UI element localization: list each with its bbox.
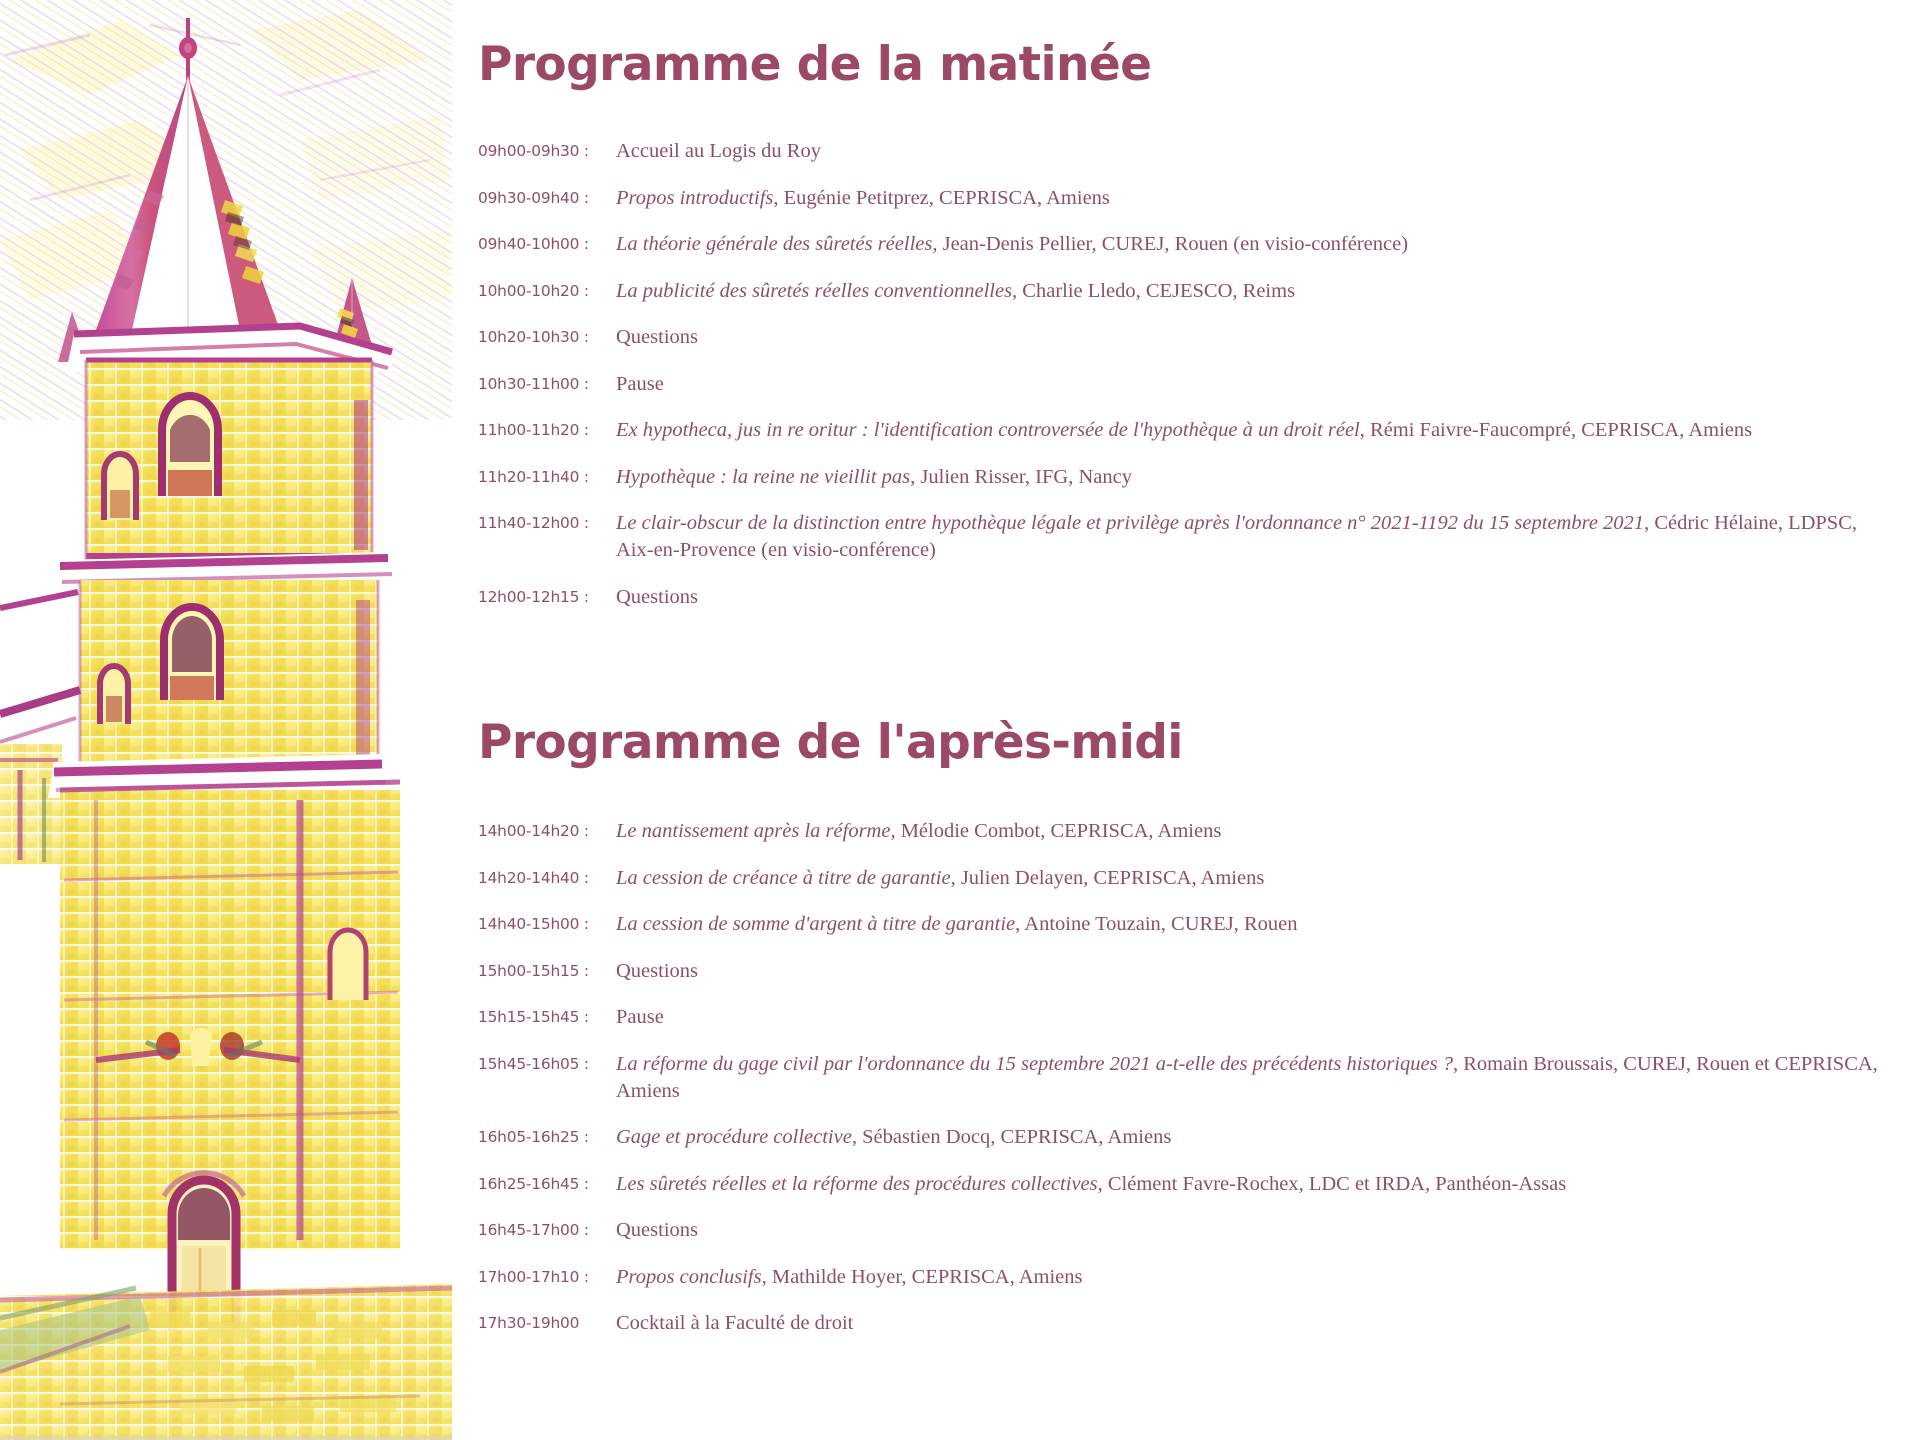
entry-title: Le clair-obscur de la distinction entre … [616,512,1644,534]
entry-speaker: , Eugénie Petitprez, CEPRISCA, Amiens [773,187,1110,209]
schedule-morning: 09h00-09h30 :Accueil au Logis du Roy09h3… [478,138,1893,630]
belfry-upper-stage [86,360,372,560]
heading-afternoon: Programme de l'après-midi [478,718,1183,767]
schedule-entry: 14h00-14h20 :Le nantissement après la ré… [478,818,1893,845]
belfry-window-upper [162,396,218,496]
entry-title: Gage et procédure collective [616,1126,852,1148]
entry-description: Accueil au Logis du Roy [614,138,1893,165]
entry-time: 15h00-15h15 : [478,958,614,985]
entry-time: 17h00-17h10 : [478,1264,614,1291]
entry-speaker: , Rémi Faivre-Faucompré, CEPRISCA, Amien… [1360,419,1752,441]
entry-speaker: , Antoine Touzain, CUREJ, Rouen [1015,913,1297,935]
schedule-entry: 12h00-12h15 :Questions [478,584,1893,611]
entry-time: 14h00-14h20 : [478,818,614,845]
entry-time: 10h00-10h20 : [478,278,614,305]
entry-description: Pause [614,1004,1893,1031]
schedule-entry: 09h00-09h30 :Accueil au Logis du Roy [478,138,1893,165]
entry-description: Hypothèque : la reine ne vieillit pas, J… [614,464,1893,491]
entry-title: Les sûretés réelles et la réforme des pr… [616,1173,1098,1195]
entry-time: 12h00-12h15 : [478,584,614,611]
schedule-entry: 11h00-11h20 :Ex hypotheca, jus in re ori… [478,417,1893,444]
entry-description: Les sûretés réelles et la réforme des pr… [614,1171,1893,1198]
entry-title: La publicité des sûretés réelles convent… [616,280,1012,302]
entry-title: Propos conclusifs [616,1266,762,1288]
schedule-entry: 10h20-10h30 :Questions [478,324,1893,351]
schedule-entry: 14h40-15h00 :La cession de somme d'argen… [478,911,1893,938]
belfry-window-lower-side [100,666,128,724]
entry-description: Questions [614,584,1893,611]
entry-speaker: Pause [616,373,664,395]
entry-description: La réforme du gage civil par l'ordonnanc… [614,1051,1893,1105]
entry-description: Ex hypotheca, jus in re oritur : l'ident… [614,417,1893,444]
schedule-entry: 14h20-14h40 :La cession de créance à tit… [478,865,1893,892]
entry-time: 16h25-16h45 : [478,1171,614,1198]
buttress-strip [354,400,368,550]
entry-description: La cession de créance à titre de garanti… [614,865,1893,892]
entry-time: 11h40-12h00 : [478,510,614,537]
entry-speaker: , Sébastien Docq, CEPRISCA, Amiens [852,1126,1171,1148]
schedule-entry: 11h20-11h40 :Hypothèque : la reine ne vi… [478,464,1893,491]
buttress-strip-2 [356,600,370,760]
entry-speaker: , Charlie Lledo, CEJESCO, Reims [1012,280,1295,302]
bottom-edge-line [0,1436,452,1440]
entry-time: 17h30-19h00 [478,1310,614,1337]
entry-description: La théorie générale des sûretés réelles,… [614,231,1893,258]
church-tower-illustration-graphic [0,0,452,1440]
entry-description: Le clair-obscur de la distinction entre … [614,510,1893,564]
entry-time: 16h05-16h25 : [478,1124,614,1151]
entry-speaker: , Julien Delayen, CEPRISCA, Amiens [951,867,1265,889]
entry-time: 15h45-16h05 : [478,1051,614,1078]
foreground-roofs [0,1284,452,1440]
schedule-entry: 09h30-09h40 :Propos introductifs, Eugéni… [478,185,1893,212]
entry-time: 10h20-10h30 : [478,324,614,351]
entry-description: La cession de somme d'argent à titre de … [614,911,1893,938]
schedule-entry: 16h45-17h00 :Questions [478,1217,1893,1244]
entry-title: Ex hypotheca, jus in re oritur : l'ident… [616,419,1360,441]
entry-title: La théorie générale des sûretés réelles [616,233,932,255]
heading-morning: Programme de la matinée [478,40,1151,89]
entry-title: La réforme du gage civil par l'ordonnanc… [616,1053,1453,1075]
entry-time: 11h20-11h40 : [478,464,614,491]
schedule-entry: 15h00-15h15 :Questions [478,958,1893,985]
programme-content: Programme de la matinée 09h00-09h30 :Acc… [452,0,1917,1440]
schedule-entry: 16h25-16h45 :Les sûretés réelles et la r… [478,1171,1893,1198]
schedule-entry: 10h00-10h20 :La publicité des sûretés ré… [478,278,1893,305]
belfry-window-upper-side [104,454,136,520]
entry-title: Propos introductifs [616,187,773,209]
entry-description: Gage et procédure collective, Sébastien … [614,1124,1893,1151]
entry-speaker: Accueil au Logis du Roy [616,140,821,162]
schedule-entry: 17h30-19h00Cocktail à la Faculté de droi… [478,1310,1893,1337]
entry-speaker: Questions [616,586,698,608]
entry-time: 09h00-09h30 : [478,138,614,165]
entry-description: Pause [614,371,1893,398]
entry-speaker: Questions [616,326,698,348]
schedule-entry: 09h40-10h00 :La théorie générale des sûr… [478,231,1893,258]
entry-description: Propos introductifs, Eugénie Petitprez, … [614,185,1893,212]
entry-description: La publicité des sûretés réelles convent… [614,278,1893,305]
entry-speaker: , Jean-Denis Pellier, CUREJ, Rouen (en v… [932,233,1408,255]
schedule-entry: 11h40-12h00 :Le clair-obscur de la disti… [478,510,1893,564]
entry-speaker: , Clément Favre-Rochex, LDC et IRDA, Pan… [1098,1173,1567,1195]
entry-speaker: , Julien Risser, IFG, Nancy [910,466,1132,488]
entry-description: Questions [614,958,1893,985]
entry-time: 14h40-15h00 : [478,911,614,938]
entry-title: Le nantissement après la réforme [616,820,890,842]
entry-description: Propos conclusifs, Mathilde Hoyer, CEPRI… [614,1264,1893,1291]
schedule-entry: 15h15-15h45 :Pause [478,1004,1893,1031]
entry-description: Questions [614,1217,1893,1244]
entry-speaker: Questions [616,1219,698,1241]
schedule-entry: 17h00-17h10 :Propos conclusifs, Mathilde… [478,1264,1893,1291]
schedule-entry: 10h30-11h00 :Pause [478,371,1893,398]
schedule-entry: 16h05-16h25 :Gage et procédure collectiv… [478,1124,1893,1151]
entry-description: Cocktail à la Faculté de droit [614,1310,1893,1337]
entry-time: 09h40-10h00 : [478,231,614,258]
entry-description: Le nantissement après la réforme, Mélodi… [614,818,1893,845]
entry-time: 10h30-11h00 : [478,371,614,398]
entry-speaker: Questions [616,960,698,982]
entry-speaker: , Mélodie Combot, CEPRISCA, Amiens [890,820,1221,842]
entry-time: 14h20-14h40 : [478,865,614,892]
entry-title: La cession de créance à titre de garanti… [616,867,951,889]
entry-time: 16h45-17h00 : [478,1217,614,1244]
entry-speaker: Pause [616,1006,664,1028]
belfry-window-lower [164,607,220,700]
entry-description: Questions [614,324,1893,351]
entry-time: 09h30-09h40 : [478,185,614,212]
schedule-entry: 15h45-16h05 :La réforme du gage civil pa… [478,1051,1893,1105]
entry-time: 15h15-15h45 : [478,1004,614,1031]
belfry-second-stage [80,580,378,770]
schedule-afternoon: 14h00-14h20 :Le nantissement après la ré… [478,818,1893,1357]
church-tower-illustration [0,0,452,1440]
entry-speaker: Cocktail à la Faculté de droit [616,1312,853,1334]
tower-lower-body [60,782,400,1330]
entry-title: Hypothèque : la reine ne vieillit pas [616,466,910,488]
entry-speaker: , Mathilde Hoyer, CEPRISCA, Amiens [762,1266,1083,1288]
entry-title: La cession de somme d'argent à titre de … [616,913,1015,935]
entry-time: 11h00-11h20 : [478,417,614,444]
programme-page: Programme de la matinée 09h00-09h30 :Acc… [0,0,1917,1440]
